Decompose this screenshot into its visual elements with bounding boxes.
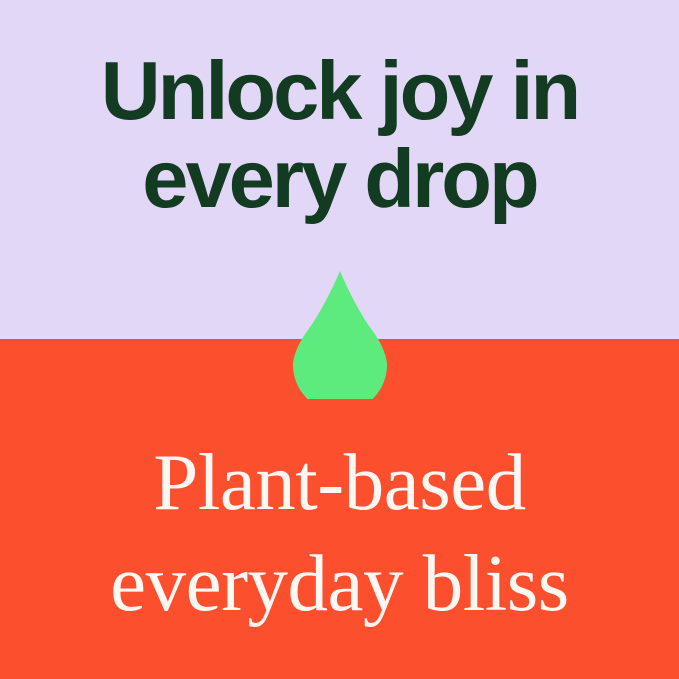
water-droplet-icon xyxy=(293,271,387,399)
headline-line-2: every drop xyxy=(0,135,679,223)
headline: Unlock joy in every drop xyxy=(0,47,679,223)
water-droplet-shape xyxy=(293,271,387,399)
headline-line-1: Unlock joy in xyxy=(0,47,679,135)
poster-canvas: Unlock joy in every drop Plant-based eve… xyxy=(0,0,679,679)
subheadline-line-1: Plant-based xyxy=(0,432,679,533)
subheadline-line-2: everyday bliss xyxy=(0,533,679,634)
subheadline: Plant-based everyday bliss xyxy=(0,432,679,634)
